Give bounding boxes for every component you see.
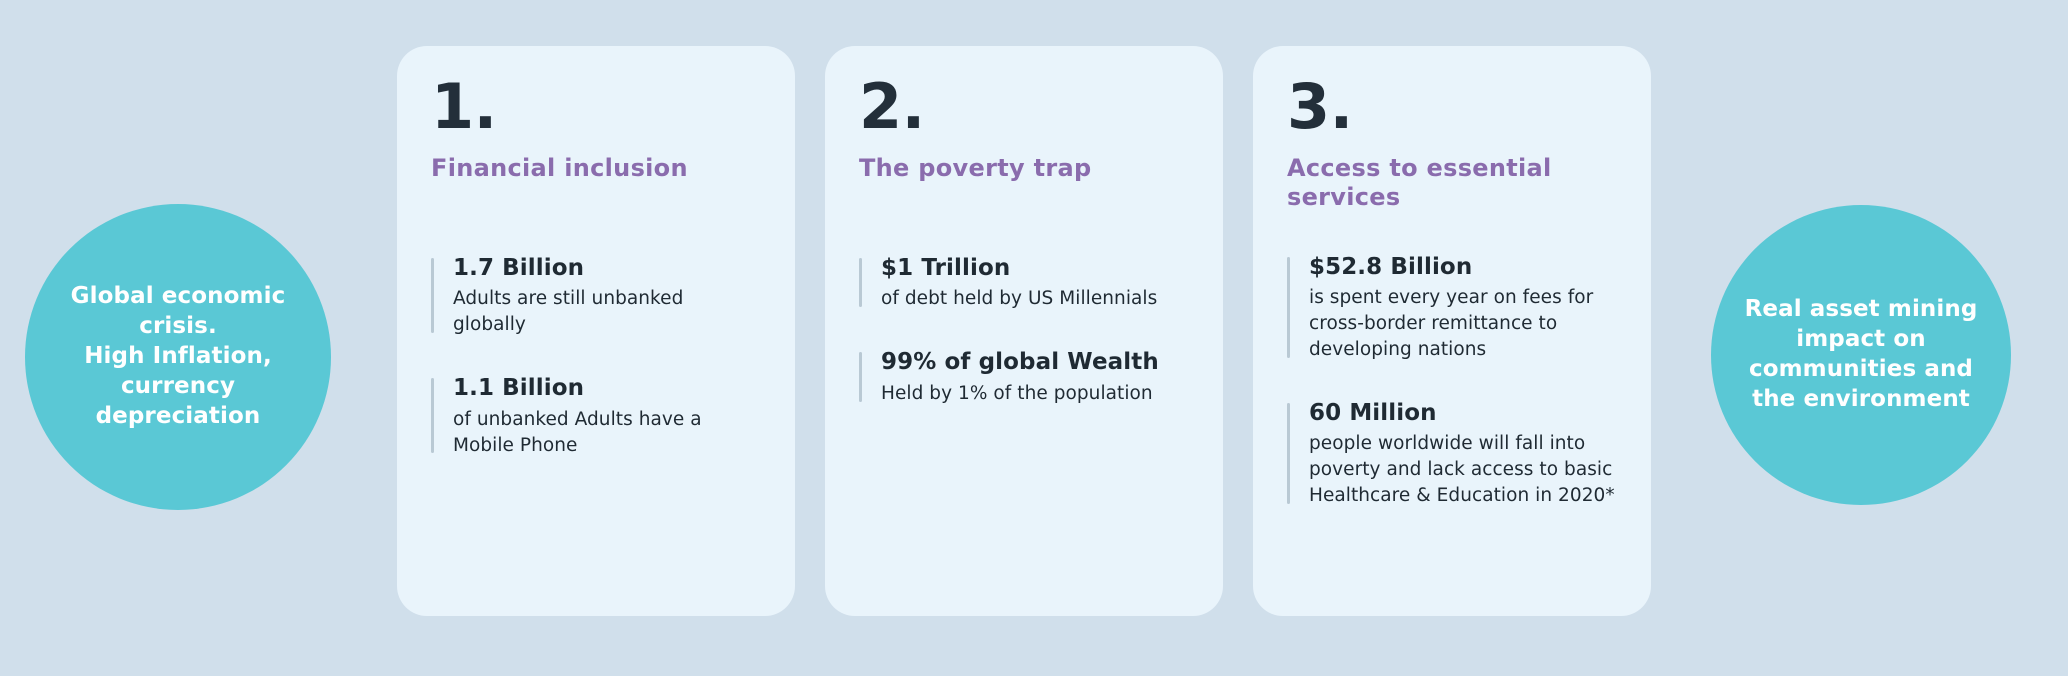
stat-value: $52.8 Billion bbox=[1309, 253, 1617, 282]
accent-bar-icon bbox=[431, 258, 434, 333]
card-1-stats: 1.7 Billion Adults are still unbanked gl… bbox=[431, 254, 761, 458]
stat-description: people worldwide will fall into poverty … bbox=[1309, 431, 1617, 509]
problem-card-2: 2. The poverty trap $1 Trillion of debt … bbox=[825, 46, 1223, 616]
accent-bar-icon bbox=[859, 352, 862, 401]
card-2-stats: $1 Trillion of debt held by US Millennia… bbox=[859, 254, 1189, 407]
stat-value: 1.1 Billion bbox=[453, 374, 761, 403]
card-3-stats: $52.8 Billion is spent every year on fee… bbox=[1287, 253, 1617, 509]
stat-description: of debt held by US Millennials bbox=[881, 286, 1189, 312]
accent-bar-icon bbox=[431, 378, 434, 453]
right-circle-text: Real asset mining impact on communities … bbox=[1711, 295, 2011, 415]
stat-item: 60 Million people worldwide will fall in… bbox=[1287, 399, 1617, 509]
stat-description: of unbanked Adults have a Mobile Phone bbox=[453, 407, 761, 459]
stat-value: 1.7 Billion bbox=[453, 254, 761, 283]
card-2-number: 2. bbox=[859, 68, 1189, 154]
stat-value: 60 Million bbox=[1309, 399, 1617, 428]
left-context-circle: Global economic crisis. High Inflation, … bbox=[25, 204, 331, 510]
stat-item: $52.8 Billion is spent every year on fee… bbox=[1287, 253, 1617, 363]
problem-card-3: 3. Access to essential services $52.8 Bi… bbox=[1253, 46, 1651, 616]
stat-item: 1.1 Billion of unbanked Adults have a Mo… bbox=[431, 374, 761, 458]
card-3-title: Access to essential services bbox=[1287, 154, 1617, 213]
problem-card-1: 1. Financial inclusion 1.7 Billion Adult… bbox=[397, 46, 795, 616]
card-2-title: The poverty trap bbox=[859, 154, 1189, 186]
stat-description: Held by 1% of the population bbox=[881, 381, 1189, 407]
right-context-circle: Real asset mining impact on communities … bbox=[1711, 205, 2011, 505]
card-1-number: 1. bbox=[431, 68, 761, 154]
card-3-number: 3. bbox=[1287, 68, 1617, 154]
stat-description: Adults are still unbanked globally bbox=[453, 286, 761, 338]
accent-bar-icon bbox=[1287, 403, 1290, 504]
stat-item: 99% of global Wealth Held by 1% of the p… bbox=[859, 348, 1189, 406]
accent-bar-icon bbox=[1287, 257, 1290, 358]
accent-bar-icon bbox=[859, 258, 862, 307]
left-circle-text: Global economic crisis. High Inflation, … bbox=[25, 282, 331, 431]
stat-value: 99% of global Wealth bbox=[881, 348, 1189, 377]
stat-item: $1 Trillion of debt held by US Millennia… bbox=[859, 254, 1189, 312]
stat-value: $1 Trillion bbox=[881, 254, 1189, 283]
stat-description: is spent every year on fees for cross-bo… bbox=[1309, 285, 1617, 363]
stat-item: 1.7 Billion Adults are still unbanked gl… bbox=[431, 254, 761, 338]
infographic-stage: Global economic crisis. High Inflation, … bbox=[0, 0, 2068, 676]
card-1-title: Financial inclusion bbox=[431, 154, 761, 186]
